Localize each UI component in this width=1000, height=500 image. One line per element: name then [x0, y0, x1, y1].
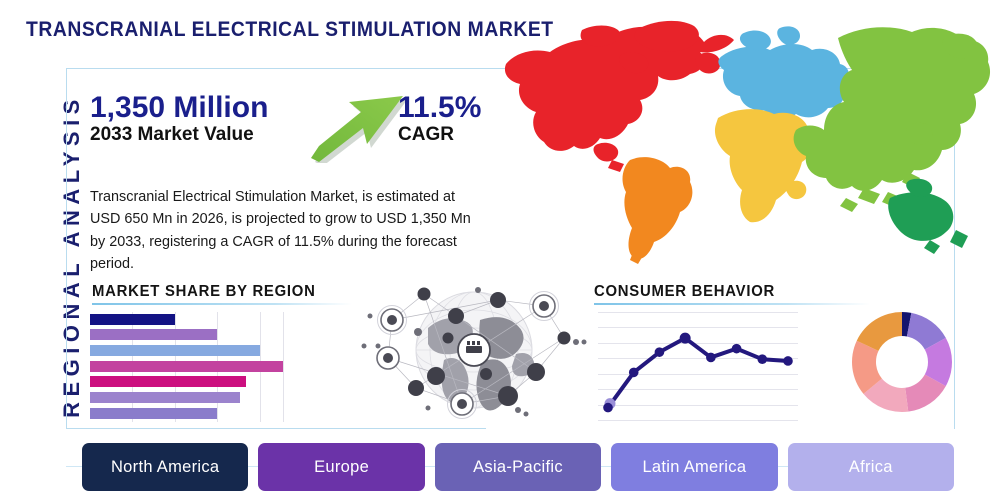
bar-segment — [90, 376, 246, 387]
bar-segment — [90, 392, 240, 403]
section-heading-market-share: MARKET SHARE BY REGION — [92, 283, 316, 301]
bar-row — [90, 408, 217, 419]
line-marker — [680, 333, 691, 344]
market-share-bar-chart — [90, 312, 302, 422]
map-region-africa — [715, 109, 812, 222]
bar-segment — [90, 408, 217, 419]
donut-series — [848, 308, 956, 416]
bar-row — [90, 392, 240, 403]
region-button-north-america[interactable]: North America — [82, 443, 248, 491]
bar-segment — [90, 361, 283, 372]
line-marker — [732, 344, 742, 354]
bar-row — [90, 329, 217, 340]
world-map — [494, 12, 994, 270]
infographic-page: TRANSCRANIAL ELECTRICAL STIMULATION MARK… — [0, 0, 1000, 500]
globe-network-graphic — [358, 276, 590, 424]
bar-gridline — [283, 312, 284, 422]
section-rule-consumer-behavior — [594, 303, 870, 305]
map-region-south-america — [623, 157, 693, 264]
bar-row — [90, 345, 260, 356]
cagr-stat: 11.5% CAGR — [398, 92, 481, 145]
line-series — [598, 312, 798, 420]
line-marker — [783, 356, 793, 366]
bar-row — [90, 314, 175, 325]
page-title: TRANSCRANIAL ELECTRICAL STIMULATION MARK… — [26, 18, 554, 42]
section-rule-market-share — [92, 303, 352, 305]
consumer-behavior-line-chart — [598, 312, 798, 420]
line-marker — [629, 368, 639, 378]
map-region-oceania — [888, 179, 968, 254]
region-button-latin-america[interactable]: Latin America — [611, 443, 777, 491]
bar-segment — [90, 345, 260, 356]
map-region-north-america — [505, 21, 734, 172]
consumer-behavior-donut-chart — [848, 308, 956, 416]
market-value-stat: 1,350 Million 2033 Market Value — [90, 92, 268, 145]
cagr-label: CAGR — [398, 124, 481, 146]
cagr-number: 11.5% — [398, 92, 481, 124]
line-marker — [603, 403, 613, 413]
key-stats: 1,350 Million 2033 Market Value 11.5% CA… — [90, 92, 490, 164]
region-button-europe[interactable]: Europe — [258, 443, 424, 491]
market-description: Transcranial Electrical Stimulation Mark… — [90, 186, 488, 275]
region-button-bar: North AmericaEuropeAsia-PacificLatin Ame… — [82, 443, 954, 491]
line-marker — [706, 353, 716, 363]
bar-segment — [90, 314, 175, 325]
market-value-number: 1,350 Million — [90, 92, 268, 124]
region-button-africa[interactable]: Africa — [788, 443, 954, 491]
line-gridline — [598, 420, 798, 421]
bar-row — [90, 376, 246, 387]
line-marker — [655, 347, 665, 357]
bar-segment — [90, 329, 217, 340]
section-heading-consumer-behavior: CONSUMER BEHAVIOR — [594, 283, 775, 301]
line-marker — [757, 354, 767, 364]
region-button-asia-pacific[interactable]: Asia-Pacific — [435, 443, 601, 491]
market-value-label: 2033 Market Value — [90, 124, 268, 146]
bar-row — [90, 361, 283, 372]
